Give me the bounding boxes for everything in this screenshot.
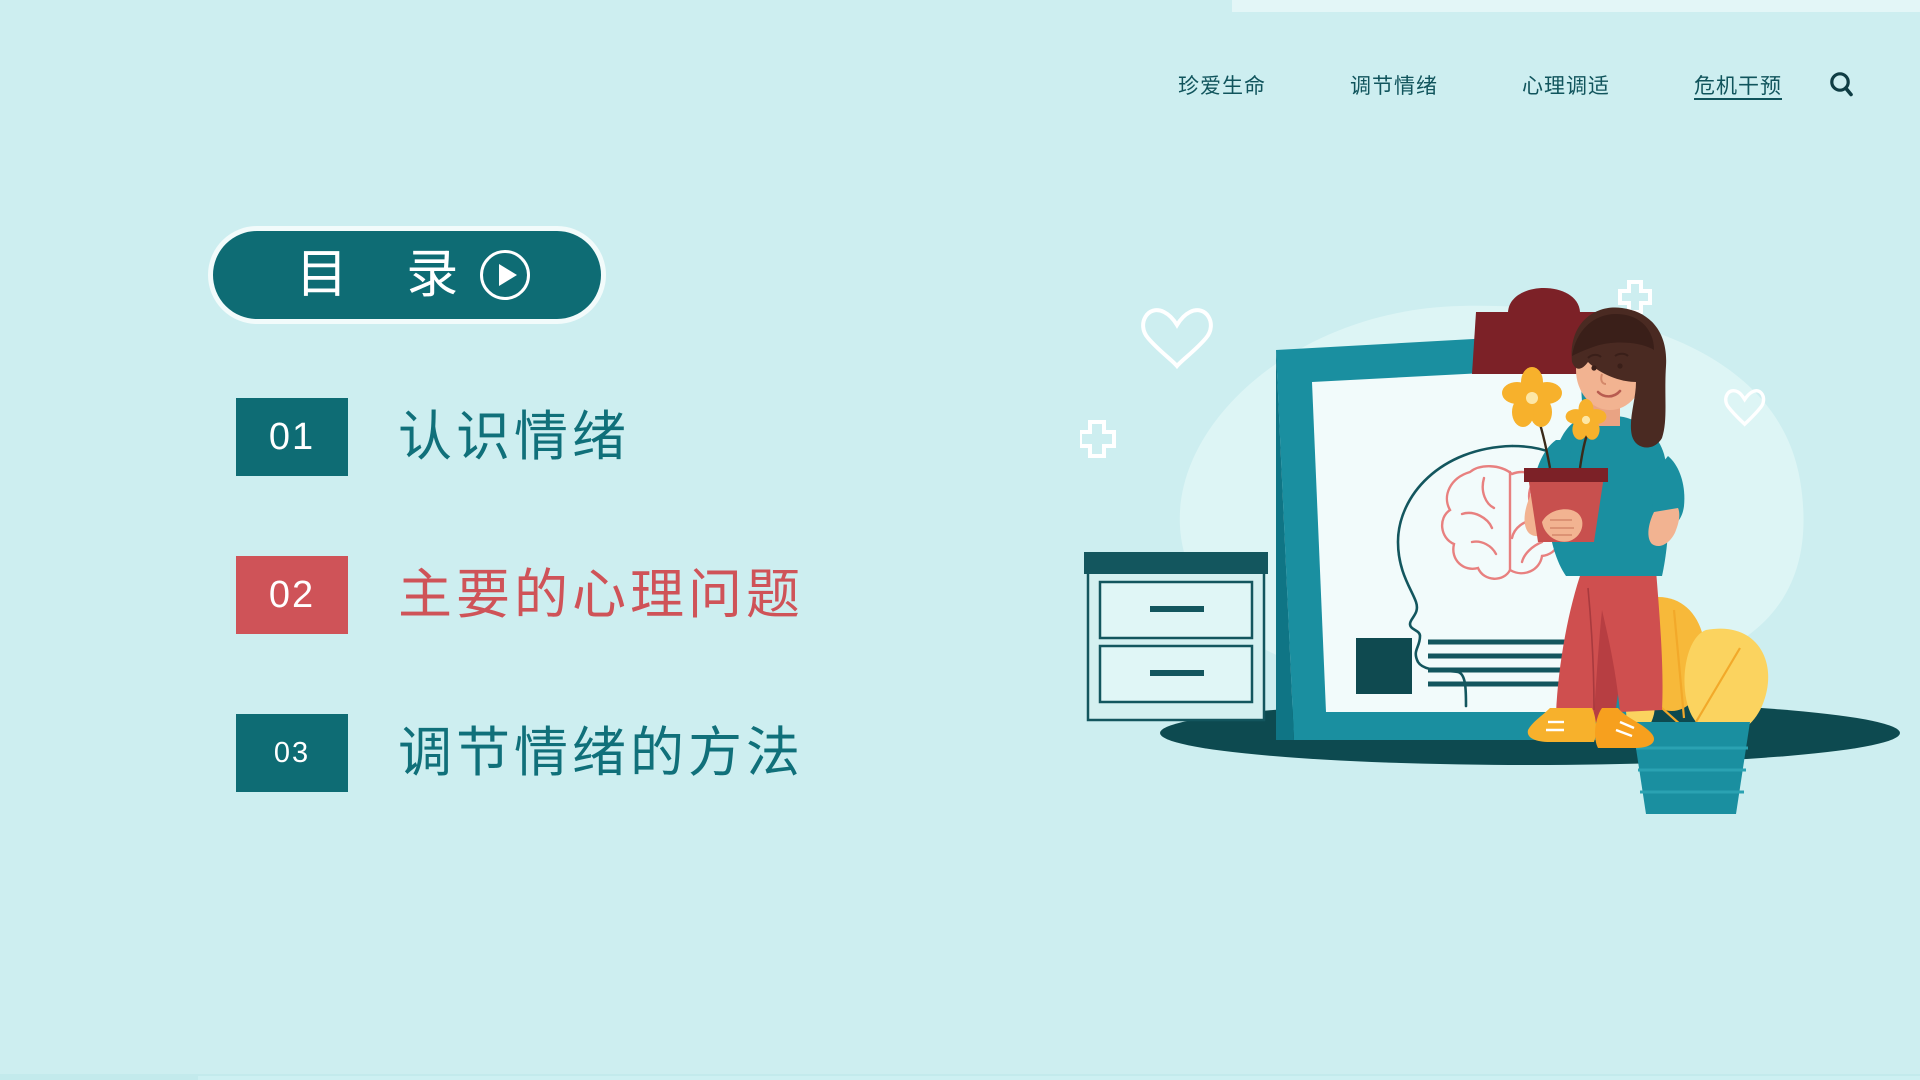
mental-health-illustration xyxy=(1080,270,1920,910)
cross-icon xyxy=(1080,422,1114,456)
list-item[interactable]: 01 认识情绪 xyxy=(236,398,804,476)
nav-item-4[interactable]: 危机干预 xyxy=(1652,70,1824,100)
toc-number-badge: 03 xyxy=(236,714,348,792)
search-icon[interactable] xyxy=(1816,59,1868,111)
toc-item-label: 调节情绪的方法 xyxy=(398,726,804,780)
list-item[interactable]: 03 调节情绪的方法 xyxy=(236,714,804,792)
top-navigation: 珍爱生命 调节情绪 心理调适 危机干预 xyxy=(0,0,1920,170)
toc-number-badge: 02 xyxy=(236,556,348,634)
toc-item-label: 主要的心理问题 xyxy=(398,568,804,622)
filing-cabinet xyxy=(1084,552,1268,720)
nav-item-2[interactable]: 调节情绪 xyxy=(1308,70,1480,100)
nav-item-3[interactable]: 心理调适 xyxy=(1480,70,1652,100)
list-item[interactable]: 02 主要的心理问题 xyxy=(236,556,804,634)
page-title: 目 录 xyxy=(280,249,480,301)
toc-list: 01 认识情绪 02 主要的心理问题 03 调节情绪的方法 xyxy=(236,398,804,792)
toc-title-badge[interactable]: 目 录 xyxy=(208,226,606,324)
heart-icon xyxy=(1143,310,1211,366)
play-icon[interactable] xyxy=(480,250,530,300)
toc-item-label: 认识情绪 xyxy=(398,410,630,464)
toc-number-badge: 01 xyxy=(236,398,348,476)
nav-item-1[interactable]: 珍爱生命 xyxy=(1136,70,1308,100)
doc-thumbnail xyxy=(1356,638,1412,694)
cross-icon-small xyxy=(1620,282,1650,312)
